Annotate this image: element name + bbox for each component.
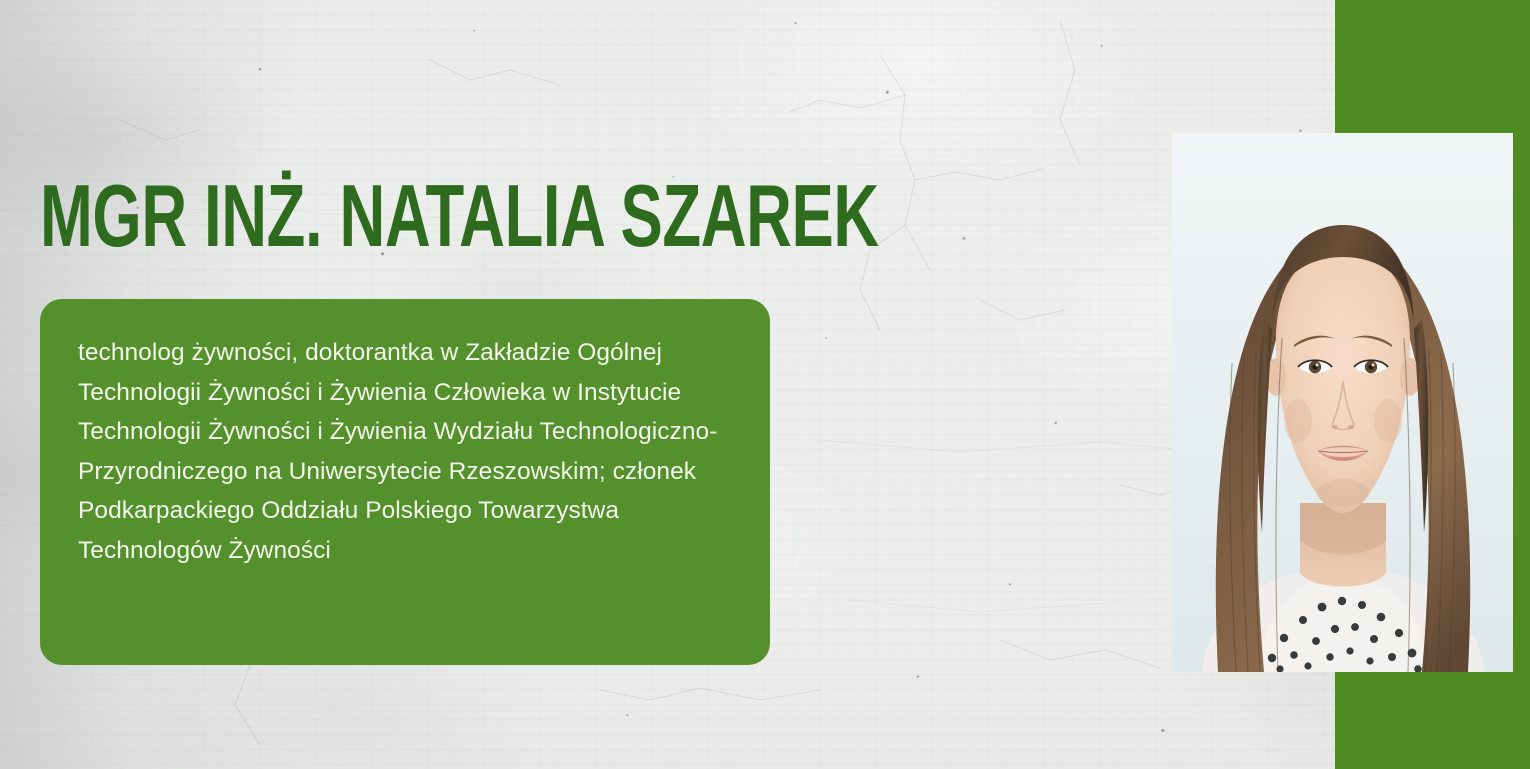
bio-card: technolog żywności, doktorantka w Zakład… <box>40 299 770 665</box>
banner-card: MGR INŻ. NATALIA SZAREK technolog żywnoś… <box>0 0 1530 769</box>
accent-panel-top <box>1335 0 1530 133</box>
page-title: MGR INŻ. NATALIA SZAREK <box>40 172 879 260</box>
accent-panel-right <box>1513 133 1530 672</box>
portrait-photo <box>1172 133 1513 672</box>
accent-panel-bottom <box>1335 672 1530 769</box>
portrait-photo-icon <box>1172 133 1513 672</box>
bio-text: technolog żywności, doktorantka w Zakład… <box>78 333 730 570</box>
